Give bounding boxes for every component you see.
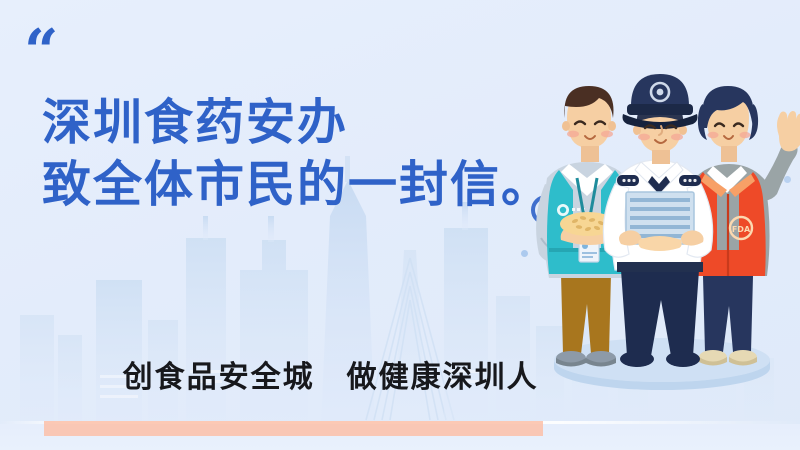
subtitle-label: 创食品安全城 做健康深圳人 [123,360,539,395]
waving-hand [777,111,800,151]
subtitle-text: 创食品安全城 做健康深圳人 [44,278,543,438]
poster-canvas: “ 深圳食药安办 致全体市民的一封信。 创食品安全城 做健康深圳人 [0,0,800,450]
page-title: 深圳食药安办 致全体市民的一封信。 [42,92,562,216]
headline-line-2: 致全体市民的一封信。 [42,154,562,216]
subtitle-block: 创食品安全城 做健康深圳人 [44,278,543,438]
subtitle-highlight-band [44,421,543,436]
three-people-illustration: FDA [525,42,800,402]
headline-line-1: 深圳食药安办 [42,92,562,154]
svg-text:FDA: FDA [732,225,751,234]
figure-enforcement-officer [603,74,712,367]
quote-mark-icon: “ [24,22,57,82]
